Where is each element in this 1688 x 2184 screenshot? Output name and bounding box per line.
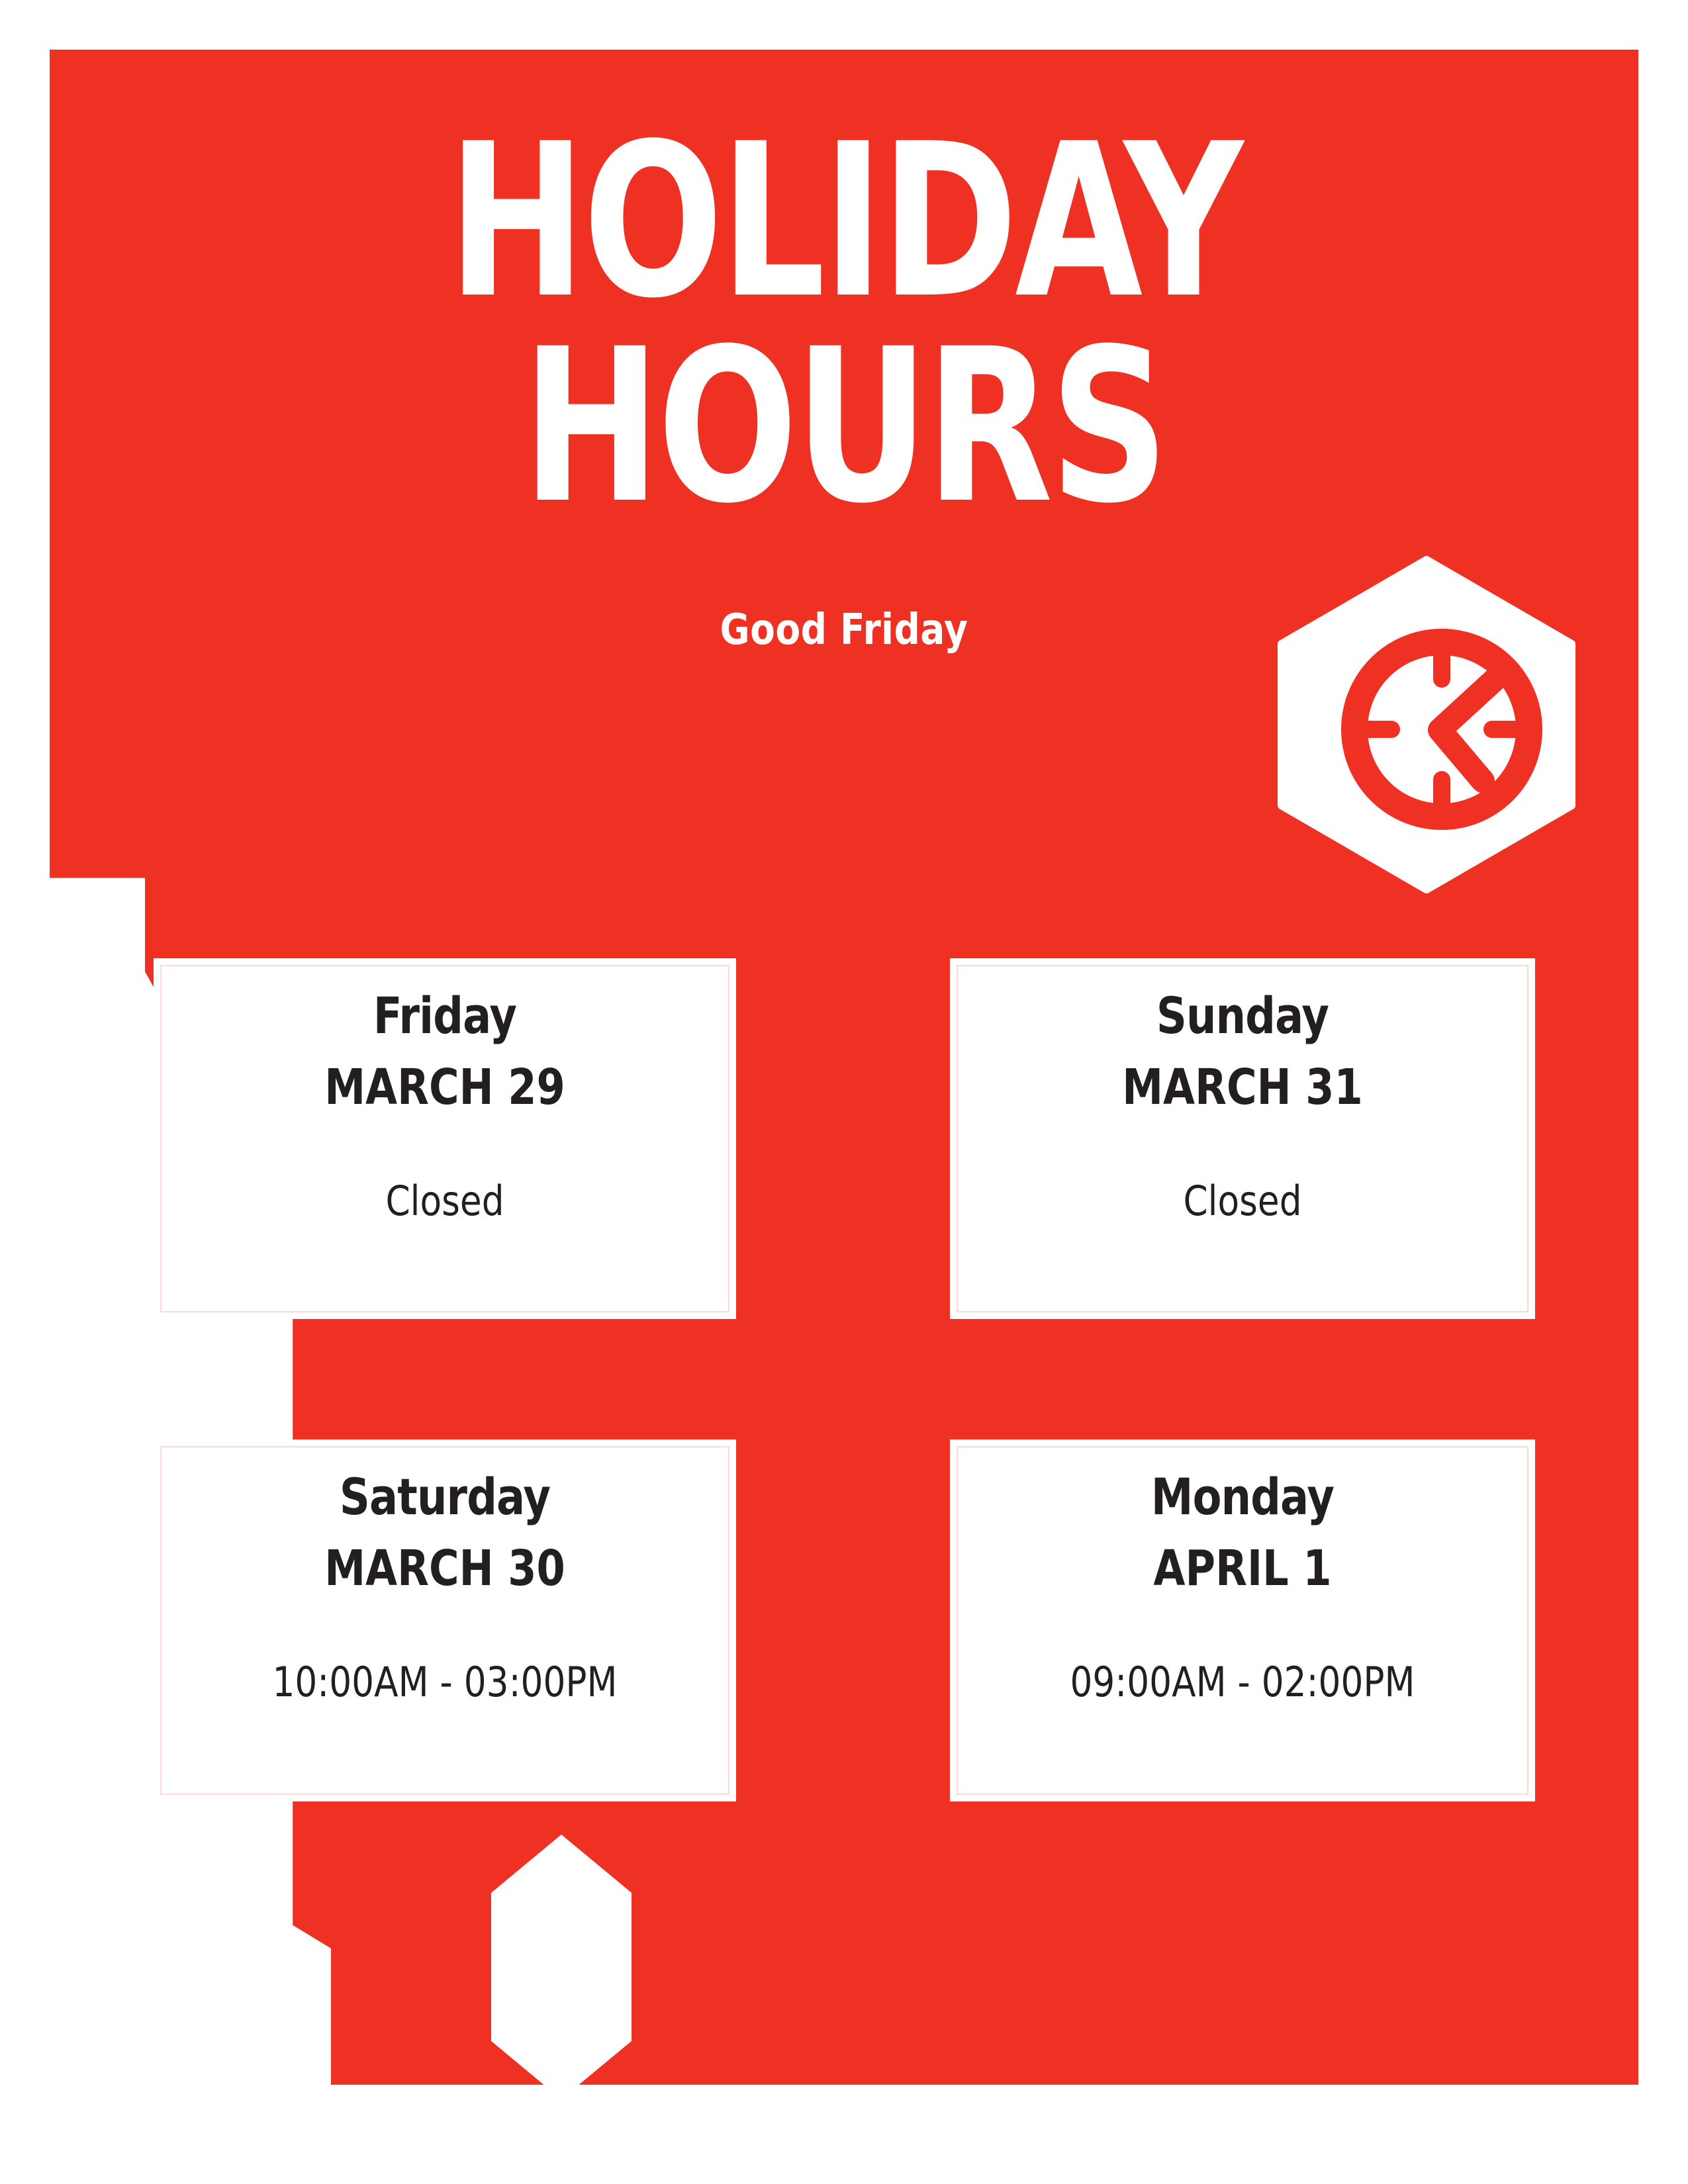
clock-icon [1278, 556, 1575, 893]
page-title: HOLIDAY HOURS [50, 119, 1638, 530]
card-day-label: Monday [997, 1467, 1489, 1526]
card-day-label: Sunday [997, 986, 1489, 1045]
card-hours-label: Closed [195, 1177, 696, 1225]
card-hours-label: 09:00AM - 02:00PM [991, 1658, 1494, 1706]
card-day-label: Saturday [200, 1467, 689, 1526]
hours-card: Saturday MARCH 30 10:00AM - 03:00PM [154, 1439, 736, 1801]
hours-card: Friday MARCH 29 Closed [154, 958, 736, 1319]
holiday-hours-poster: HOLIDAY HOURS Good Friday Friday MARCH 2… [0, 0, 1688, 2184]
title-line-2: HOURS [224, 324, 1464, 529]
hexagon-wedge-shape [0, 1823, 331, 2184]
card-date-label: MARCH 30 [200, 1540, 689, 1597]
card-date-label: APRIL 1 [997, 1540, 1489, 1597]
card-date-label: MARCH 29 [200, 1059, 689, 1116]
hours-card: Monday APRIL 1 09:00AM - 02:00PM [950, 1439, 1535, 1801]
title-line-1: HOLIDAY [224, 119, 1464, 324]
card-date-label: MARCH 31 [997, 1059, 1489, 1116]
card-hours-label: 10:00AM - 03:00PM [195, 1658, 696, 1706]
card-day-label: Friday [200, 986, 689, 1045]
hours-card: Sunday MARCH 31 Closed [950, 958, 1535, 1319]
card-hours-label: Closed [991, 1177, 1494, 1225]
